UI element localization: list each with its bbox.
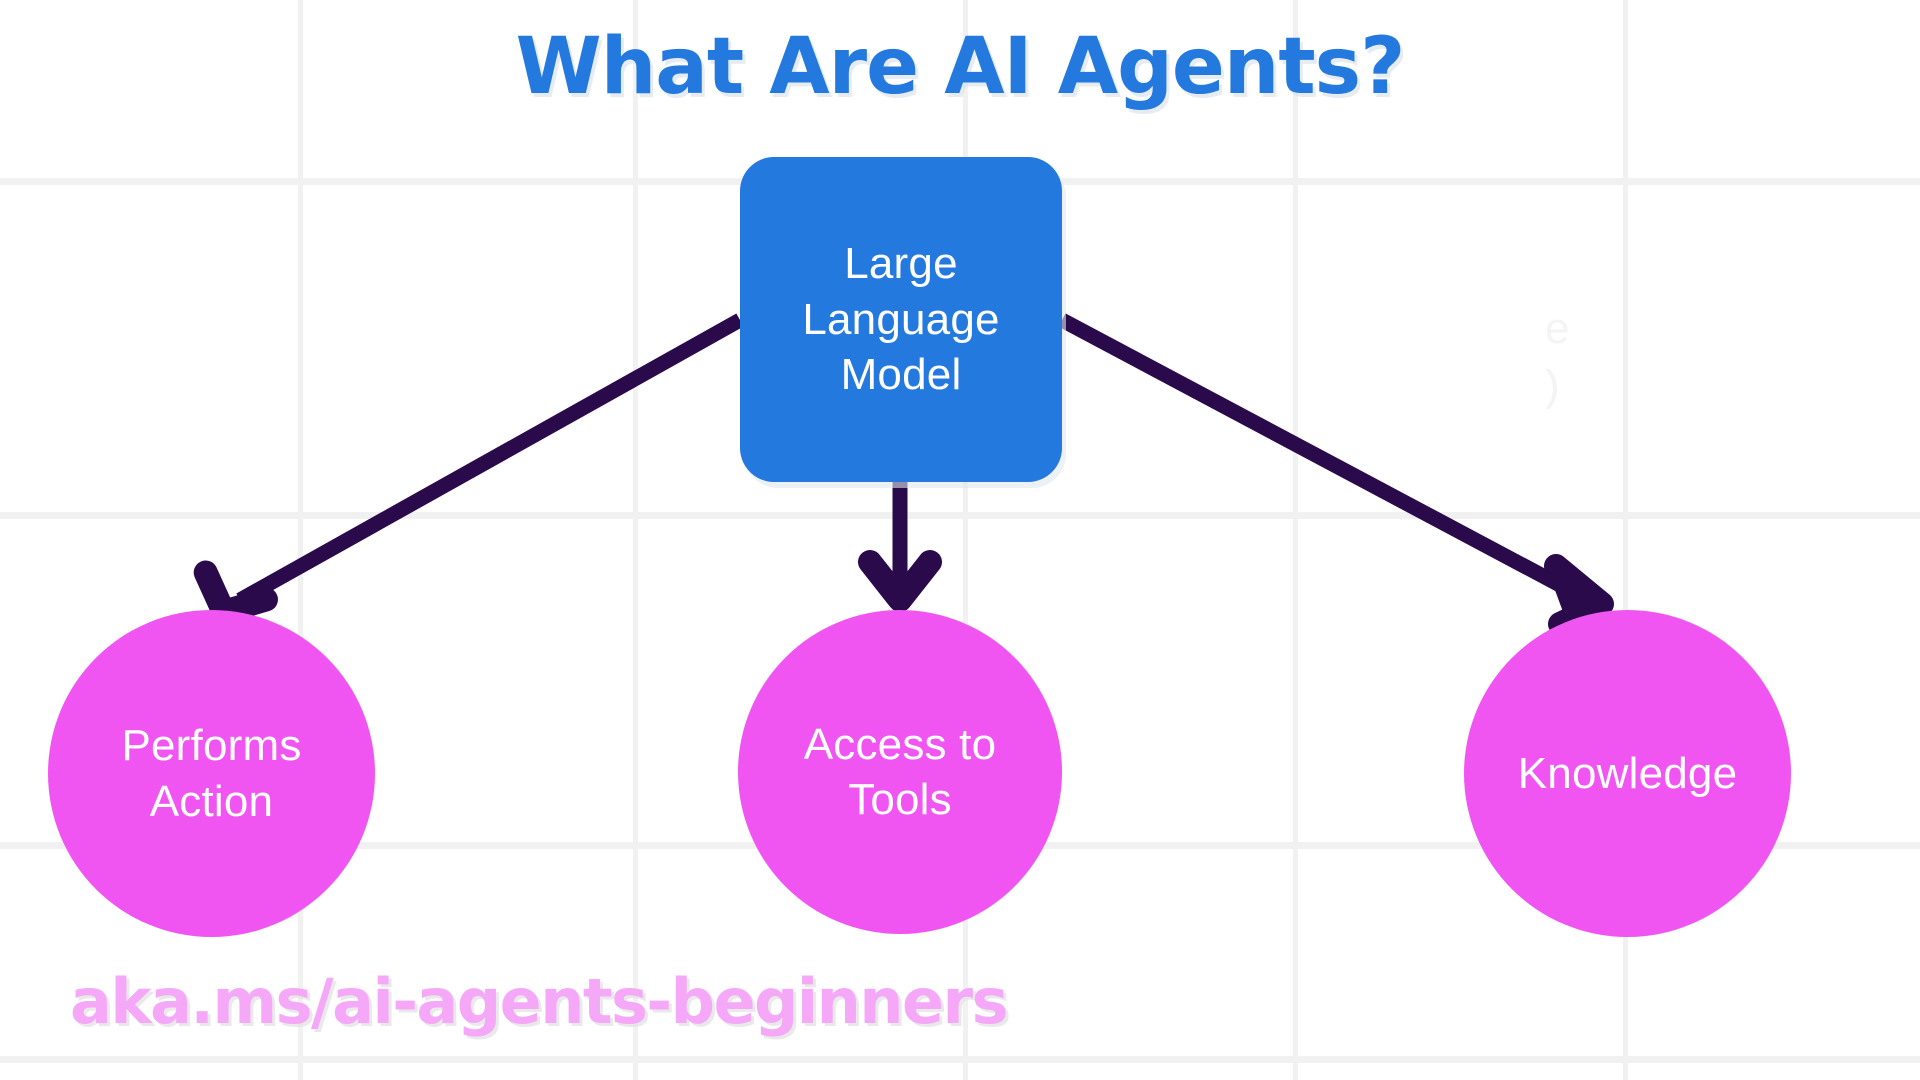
grid-line-vertical <box>298 0 303 1080</box>
arrow-llm-to-access-to-tools <box>870 482 930 600</box>
node-access-to-tools[interactable]: Access to Tools <box>738 610 1062 934</box>
arrow-llm-to-knowledge <box>1062 320 1604 624</box>
grid-line-horizontal <box>0 1056 1920 1063</box>
grid-line-vertical <box>1293 0 1298 1080</box>
footer-url-link[interactable]: aka.ms/ai-agents-beginners <box>70 965 1007 1038</box>
grid-line-horizontal <box>0 512 1920 519</box>
node-large-language-model[interactable]: Large Language Model <box>740 157 1062 482</box>
node-knowledge-label: Knowledge <box>1504 746 1752 801</box>
node-access-to-tools-label: Access to Tools <box>790 717 1011 828</box>
node-knowledge[interactable]: Knowledge <box>1464 610 1791 937</box>
node-performs-action[interactable]: Performs Action <box>48 610 375 937</box>
arrow-llm-to-performs-action <box>206 320 740 624</box>
grid-line-vertical <box>633 0 638 1080</box>
node-large-language-model-label: Large Language Model <box>802 236 999 402</box>
page-title: What Are AI Agents? <box>0 22 1920 112</box>
ghost-text-fragment: e ) <box>1545 300 1569 414</box>
node-performs-action-label: Performs Action <box>107 718 315 829</box>
slide-canvas: e ) What Are AI Agents? Large Language M… <box>0 0 1920 1080</box>
